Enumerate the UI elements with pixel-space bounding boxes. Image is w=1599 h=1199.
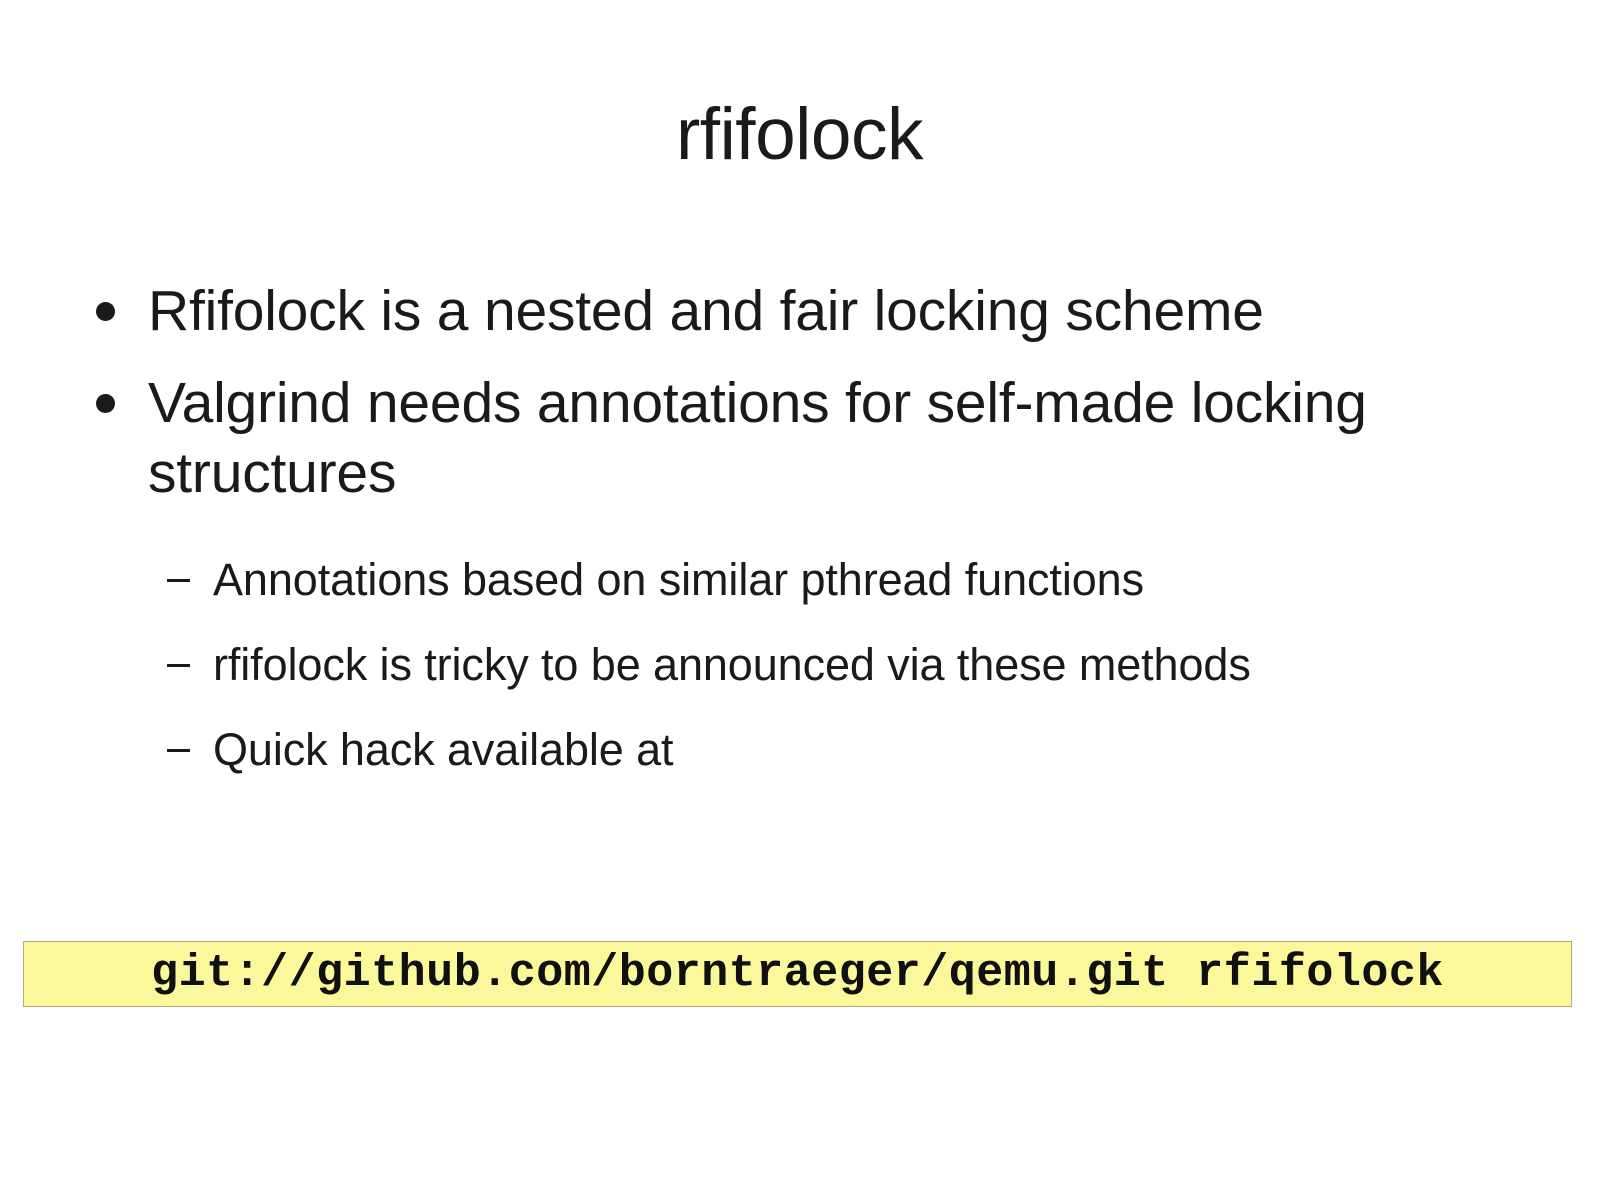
- bullet-item-level2: Annotations based on similar pthread fun…: [0, 548, 1599, 611]
- bullet-text-level1: Rfifolock is a nested and fair locking s…: [148, 279, 1264, 343]
- bullet-text-level2: Quick hack available at: [213, 724, 673, 775]
- en-dash-icon: [167, 718, 197, 752]
- bullet-dot-icon: [96, 368, 120, 413]
- bullet-item-level1: Rfifolock is a nested and fair locking s…: [0, 276, 1599, 346]
- git-url-text[interactable]: git://github.com/borntraeger/qemu.git rf…: [151, 949, 1444, 999]
- bullet-item-level2: rfifolock is tricky to be announced via …: [0, 633, 1599, 696]
- en-dash-icon: [167, 548, 197, 582]
- slide-canvas: rfifolock Rfifolock is a nested and fair…: [0, 0, 1599, 1199]
- bullet-dot-icon: [96, 276, 120, 321]
- slide-body-content: Rfifolock is a nested and fair locking s…: [0, 276, 1599, 803]
- bullet-item-level2: Quick hack available at: [0, 718, 1599, 781]
- en-dash-icon: [167, 633, 197, 667]
- code-callout-box: git://github.com/borntraeger/qemu.git rf…: [23, 941, 1572, 1007]
- bullet-text-level1: Valgrind needs annotations for self-made…: [148, 371, 1367, 505]
- bullet-item-level1: Valgrind needs annotations for self-made…: [0, 368, 1599, 508]
- slide-title: rfifolock: [0, 92, 1599, 178]
- bullet-text-level2: Annotations based on similar pthread fun…: [213, 554, 1144, 605]
- sub-bullet-group: Annotations based on similar pthread fun…: [0, 548, 1599, 781]
- bullet-text-level2: rfifolock is tricky to be announced via …: [213, 639, 1251, 690]
